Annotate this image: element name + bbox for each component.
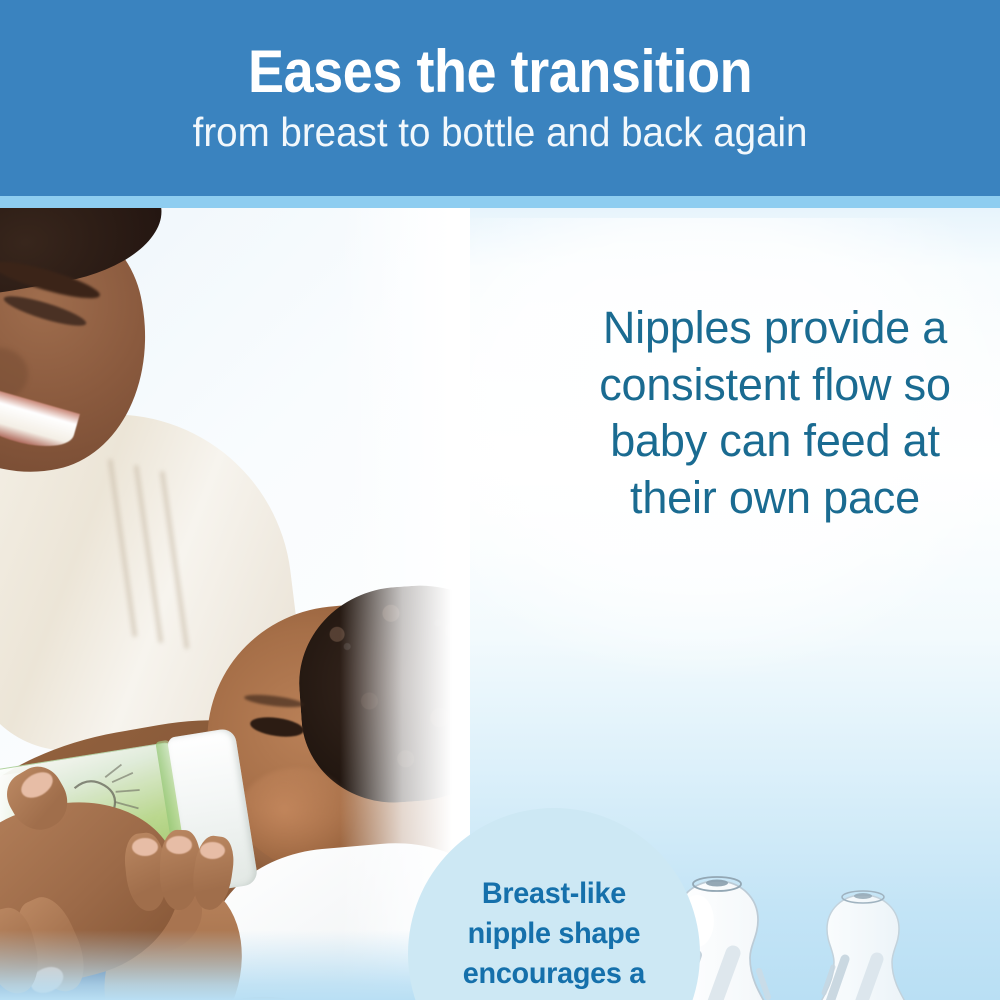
- copy-line-2: consistent flow so: [560, 357, 990, 414]
- baby-fingernail: [166, 836, 192, 854]
- banner-title: Eases the transition: [248, 41, 752, 102]
- copy-line-3: baby can feed at: [560, 413, 990, 470]
- feature-description-text: Nipples provide a consistent flow so bab…: [560, 300, 990, 527]
- banner-underline: [0, 196, 1000, 208]
- copy-line-4: their own pace: [560, 470, 990, 527]
- header-banner: Eases the transition from breast to bott…: [0, 0, 1000, 196]
- badge-line-4: proper latch: [463, 994, 645, 1000]
- baby-fingernail: [132, 838, 158, 856]
- photo-bottom-fade: [0, 930, 470, 1000]
- baby-fingernail: [200, 842, 225, 859]
- banner-subtitle: from breast to bottle and back again: [193, 110, 808, 155]
- background-stage: 1: [0, 208, 1000, 1000]
- mother-feeding-baby-photo: [0, 208, 470, 1000]
- badge-line-1: Breast-like: [463, 874, 645, 914]
- badge-line-3: encourages a: [463, 954, 645, 994]
- nipple-back: 1: [739, 891, 987, 1000]
- badge-line-2: nipple shape: [463, 914, 645, 954]
- badge-text: Breast-like nipple shape encourages a pr…: [463, 874, 645, 1000]
- copy-line-1: Nipples provide a: [560, 300, 990, 357]
- infographic-canvas: 1: [0, 0, 1000, 1000]
